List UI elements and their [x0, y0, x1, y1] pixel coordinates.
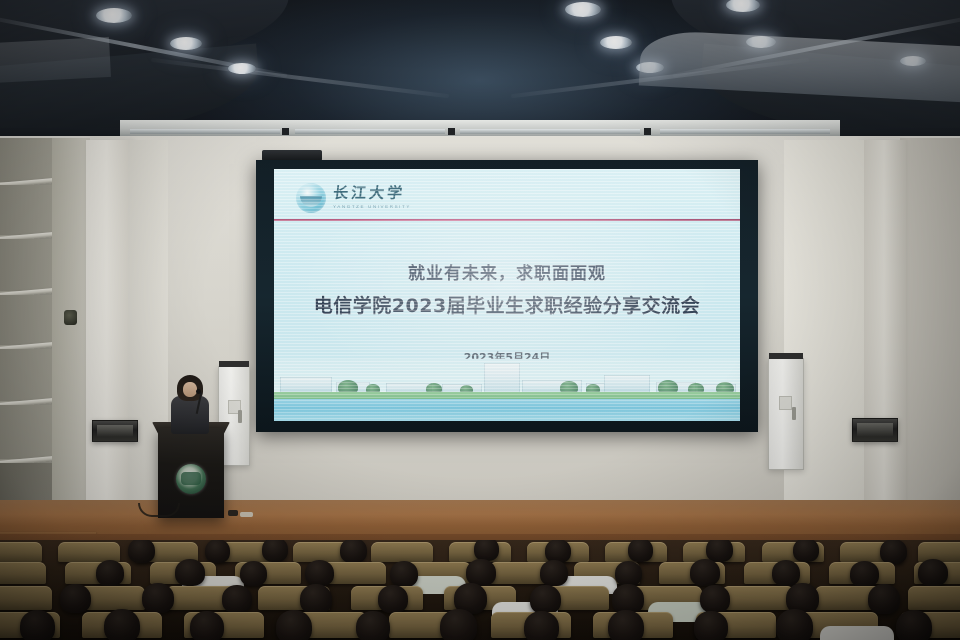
louver-panel	[0, 295, 58, 345]
soffit-bracket	[282, 128, 289, 135]
cabinet-right	[768, 358, 804, 470]
audience-head	[390, 561, 418, 587]
university-seal-icon	[176, 464, 206, 494]
audience-head	[608, 610, 644, 640]
audience-head	[440, 609, 477, 640]
ceiling-downlight	[96, 8, 132, 23]
slide-campus-panorama	[274, 359, 740, 421]
ceiling-downlight	[565, 2, 601, 17]
audience-head	[300, 584, 332, 614]
audience-seating	[0, 540, 960, 640]
audience-head	[240, 561, 267, 586]
ceiling-downlight	[228, 63, 256, 74]
soffit-bracket	[644, 128, 651, 135]
audience-head	[60, 584, 91, 613]
cabinet-top-bar	[769, 353, 803, 359]
projection-screen: 长江大学 YANGTZE UNIVERSITY 就业有未来，求职面面观 电信学院…	[256, 160, 758, 432]
soffit-strip	[130, 129, 280, 134]
audience-head	[190, 611, 224, 640]
left-wall-return	[52, 138, 90, 538]
theater-seat	[908, 586, 960, 610]
right-pillar	[862, 140, 906, 540]
cabinet-latch-icon	[238, 410, 242, 423]
audience-head	[700, 585, 730, 613]
microphone-icon	[196, 389, 201, 394]
presenter-body	[171, 396, 209, 434]
slide-title-main: 就业有未来，求职面面观	[274, 259, 740, 284]
auditorium-photo: 长江大学 YANGTZE UNIVERSITY 就业有未来，求职面面观 电信学院…	[0, 0, 960, 640]
audience-shoulders	[820, 626, 894, 640]
audience-head	[615, 561, 642, 586]
audience-head	[20, 610, 55, 640]
seat-row	[0, 612, 960, 638]
slide-divider-rule	[274, 219, 740, 221]
audience-head	[378, 585, 408, 613]
left-acoustic-wall	[0, 138, 58, 538]
audience-head	[628, 540, 653, 562]
theater-seat	[58, 542, 120, 562]
ceiling-downlight	[170, 37, 202, 50]
audience-head	[880, 540, 907, 564]
louver-panel	[0, 185, 58, 235]
audience-head	[474, 540, 499, 561]
pano-building	[604, 375, 650, 393]
audience-head	[175, 559, 205, 586]
cabinet-top-bar	[219, 361, 249, 367]
soffit-strip	[660, 129, 830, 134]
university-name-cn: 长江大学	[332, 187, 412, 202]
louver-panel	[0, 405, 58, 459]
audience-head	[222, 585, 252, 613]
louver-panel	[0, 138, 58, 182]
yangtze-university-emblem-icon	[296, 183, 326, 213]
louver-panel	[0, 239, 58, 291]
theater-seat	[0, 542, 42, 562]
pano-tower-building	[484, 363, 520, 393]
soffit-strip	[460, 129, 640, 134]
wall-speaker-left	[92, 420, 138, 442]
right-wall-return	[784, 140, 864, 538]
audience-head	[128, 540, 155, 563]
speaker-grille-icon	[97, 425, 134, 438]
audience-head	[305, 560, 334, 586]
presentation-slide: 长江大学 YANGTZE UNIVERSITY 就业有未来，求职面面观 电信学院…	[274, 169, 740, 421]
presenter-face	[183, 382, 197, 397]
louver-panel	[0, 349, 58, 401]
audience-head	[96, 560, 124, 586]
wall-speaker-right	[852, 418, 898, 442]
theater-seat	[722, 586, 794, 610]
soffit-strip	[295, 129, 445, 134]
stage-floor-object	[228, 510, 238, 516]
audience-head	[776, 609, 813, 640]
wall-fixture-icon	[64, 310, 77, 325]
pano-water	[274, 399, 740, 421]
soffit-bracket	[448, 128, 455, 135]
audience-head	[540, 560, 568, 586]
audience-head	[530, 585, 561, 614]
audience-head	[850, 561, 879, 587]
pano-building	[280, 377, 332, 393]
slide-title-sub: 电信学院2023届毕业生求职经验分享交流会	[274, 291, 740, 318]
theater-seat	[0, 586, 52, 610]
theater-seat	[0, 562, 46, 584]
audience-head	[690, 559, 720, 586]
audience-head	[466, 559, 496, 586]
audience-head	[205, 540, 230, 563]
theater-seat	[371, 542, 433, 562]
audience-head	[262, 540, 288, 562]
cabinet-latch-icon	[792, 407, 796, 420]
slide-logo-text: 长江大学 YANGTZE UNIVERSITY	[333, 187, 411, 210]
ceiling-panel-left	[0, 37, 111, 83]
audience-head	[276, 610, 312, 640]
audience-head	[104, 609, 140, 640]
left-pillar	[86, 140, 132, 538]
right-wall	[900, 138, 960, 538]
audience-head	[772, 560, 800, 586]
speaker-grille-icon	[857, 423, 894, 437]
slide-logo: 长江大学 YANGTZE UNIVERSITY	[296, 181, 476, 215]
audience-head	[524, 611, 559, 640]
proscenium-soffit	[120, 120, 840, 136]
audience-head	[793, 540, 819, 562]
stage-floor-object	[240, 512, 253, 517]
audience-head	[340, 540, 367, 563]
university-name-en: YANGTZE UNIVERSITY	[333, 205, 411, 210]
presenter-at-podium	[168, 378, 212, 434]
cabinet-plate	[779, 396, 792, 410]
ceiling-downlight	[600, 36, 632, 49]
audience-head	[918, 559, 948, 586]
audience-head	[694, 611, 728, 640]
audience-head	[868, 584, 900, 614]
audience-head	[896, 610, 932, 640]
audience-head	[356, 611, 390, 640]
audience-head	[142, 583, 174, 613]
